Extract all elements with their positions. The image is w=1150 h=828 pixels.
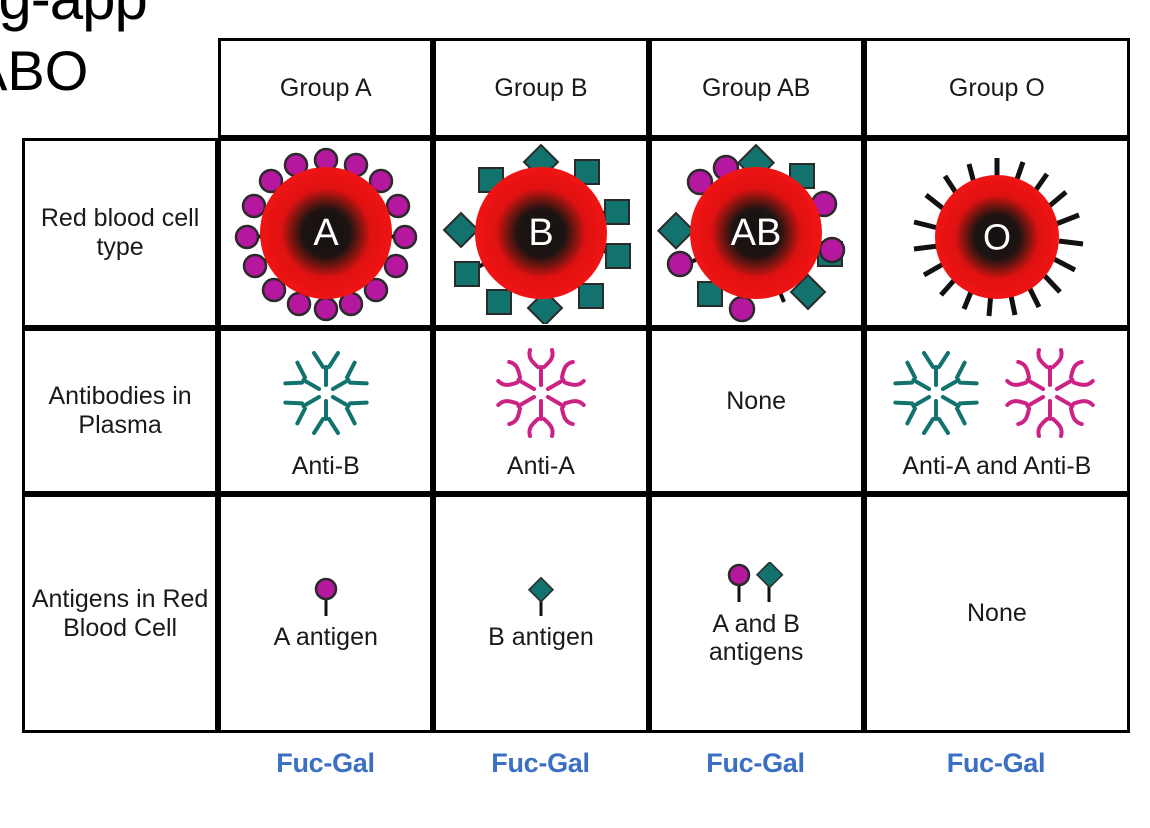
antigens-group-ab-caption-line2: antigens bbox=[709, 638, 804, 666]
cell-antibodies-group-a: Anti-B bbox=[218, 328, 433, 494]
b-antigen-icon bbox=[521, 576, 561, 620]
anti-a-and-anti-b-antibody-cluster-icon bbox=[872, 341, 1122, 445]
column-header-group-o: Group O bbox=[864, 38, 1130, 138]
antibodies-group-ab-caption: None bbox=[726, 388, 786, 416]
rbc-group-b-letter: B bbox=[528, 212, 553, 254]
rbc-group-o-letter: O bbox=[983, 217, 1011, 258]
antibodies-group-a-caption: Anti-B bbox=[292, 453, 360, 481]
cell-antigens-group-a: A antigen bbox=[218, 494, 433, 733]
cell-antigens-group-b: B antigen bbox=[433, 494, 648, 733]
column-header-group-ab: Group AB bbox=[649, 38, 864, 138]
antibodies-group-b-caption: Anti-A bbox=[507, 453, 575, 481]
rbc-group-o-icon: O bbox=[897, 142, 1097, 324]
column-header-group-a: Group A bbox=[218, 38, 433, 138]
rbc-group-b-icon: B bbox=[441, 142, 641, 324]
table-row-antibodies-in-plasma: Antibodies in Plasma An bbox=[22, 328, 1130, 494]
table-header-row: Group A Group B Group AB Group O bbox=[22, 38, 1130, 138]
table-row-antigens-in-red-blood-cell: Antigens in Red Blood Cell A antigen B a… bbox=[22, 494, 1130, 733]
cell-antibodies-group-b: Anti-A bbox=[433, 328, 648, 494]
rbc-group-ab-letter: AB bbox=[731, 212, 782, 254]
antigens-group-ab-caption-line1: A and B bbox=[712, 610, 800, 638]
fuc-gal-label-row: Fuc-Gal Fuc-Gal Fuc-Gal Fuc-Gal bbox=[22, 748, 1130, 779]
a-antigen-icon bbox=[306, 576, 346, 620]
fuc-gal-label-group-ab: Fuc-Gal bbox=[648, 748, 863, 779]
row-label-red-blood-cell-type: Red blood cell type bbox=[22, 138, 218, 328]
antigens-group-a-caption: A antigen bbox=[274, 624, 378, 652]
cell-antigens-group-ab: A and B antigens bbox=[649, 494, 864, 733]
table-row-red-blood-cell-type: Red blood cell type bbox=[22, 138, 1130, 328]
anti-b-antibody-cluster-icon bbox=[256, 341, 396, 445]
cell-antigens-group-o: None bbox=[864, 494, 1130, 733]
cell-rbc-group-o: O bbox=[864, 138, 1130, 328]
a-and-b-antigen-icon bbox=[719, 562, 793, 606]
rbc-group-a-letter: A bbox=[313, 212, 339, 254]
abo-blood-group-table: Group A Group B Group AB Group O Red blo… bbox=[22, 38, 1130, 733]
fuc-gal-label-group-b: Fuc-Gal bbox=[433, 748, 648, 779]
cell-antibodies-group-o: Anti-A and Anti-B bbox=[864, 328, 1130, 494]
cell-antibodies-group-ab: None bbox=[649, 328, 864, 494]
cell-rbc-group-a: A bbox=[218, 138, 433, 328]
rbc-group-a-icon: A bbox=[226, 142, 426, 324]
row-label-antibodies-in-plasma: Antibodies in Plasma bbox=[22, 328, 218, 494]
fuc-gal-label-group-a: Fuc-Gal bbox=[218, 748, 433, 779]
table-corner-blank bbox=[22, 38, 218, 138]
anti-a-antibody-cluster-icon bbox=[471, 341, 611, 445]
page-title-clipped: ag-app bbox=[0, 0, 147, 33]
cell-rbc-group-ab: AB bbox=[649, 138, 864, 328]
fuc-gal-label-group-o: Fuc-Gal bbox=[863, 748, 1129, 779]
row-label-antigens-in-red-blood-cell: Antigens in Red Blood Cell bbox=[22, 494, 218, 733]
antigens-group-b-caption: B antigen bbox=[488, 624, 594, 652]
antibodies-group-o-caption: Anti-A and Anti-B bbox=[902, 453, 1091, 481]
column-header-group-b: Group B bbox=[433, 38, 648, 138]
rbc-group-ab-icon: AB bbox=[656, 142, 856, 324]
cell-rbc-group-b: B bbox=[433, 138, 648, 328]
antigens-group-o-caption: None bbox=[967, 600, 1027, 628]
